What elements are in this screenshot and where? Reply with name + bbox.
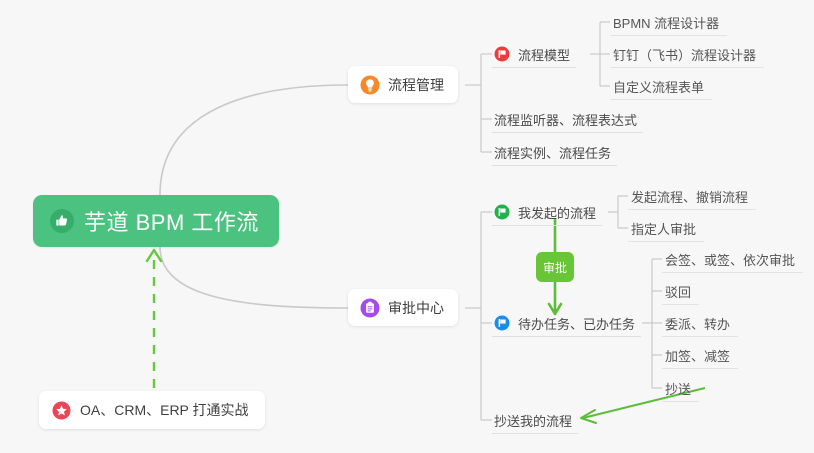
star-icon <box>52 401 71 420</box>
root-label: 芋道 BPM 工作流 <box>84 205 259 237</box>
branch-label: 流程管理 <box>388 75 444 95</box>
sub-node-label: 待办任务、已办任务 <box>518 314 635 333</box>
bottom-note-node[interactable]: OA、CRM、ERP 打通实战 <box>39 391 265 429</box>
branch-node-process-management[interactable]: 流程管理 <box>348 66 458 103</box>
sub-node-process-model[interactable]: 流程模型 <box>492 41 576 68</box>
sub-node-my-initiated-process[interactable]: 我发起的流程 <box>492 199 602 226</box>
leaf-label: 驳回 <box>665 282 691 301</box>
leaf-node[interactable]: 驳回 <box>662 278 699 305</box>
sub-node-label: 流程模型 <box>518 45 570 64</box>
branch-label: 审批中心 <box>388 298 444 318</box>
root-node[interactable]: 芋道 BPM 工作流 <box>33 195 279 247</box>
leaf-node[interactable]: 发起流程、撤销流程 <box>628 183 756 210</box>
leaf-label: 加签、减签 <box>665 346 730 365</box>
lightbulb-icon <box>360 75 380 95</box>
bottom-note-label: OA、CRM、ERP 打通实战 <box>80 400 249 420</box>
sub-node-process-listener[interactable]: 流程监听器、流程表达式 <box>492 106 643 133</box>
approval-flow-badge-label: 审批 <box>543 259 567 276</box>
sub-node-label: 我发起的流程 <box>518 203 596 222</box>
sub-node-label: 抄送我的流程 <box>494 411 572 430</box>
approval-flow-badge[interactable]: 审批 <box>536 252 574 282</box>
branch-node-approval-center[interactable]: 审批中心 <box>348 289 458 326</box>
sub-node-cc-to-me[interactable]: 抄送我的流程 <box>492 407 578 434</box>
leaf-label: 抄送 <box>665 379 691 398</box>
mindmap-canvas: 芋道 BPM 工作流 流程管理 流程模型 BPMN 流程设计器 钉钉（飞书）流程 <box>0 0 814 453</box>
leaf-label: BPMN 流程设计器 <box>613 13 719 32</box>
leaf-node[interactable]: 抄送 <box>662 375 699 402</box>
leaf-label: 委派、转办 <box>665 314 730 333</box>
leaf-label: 钉钉（飞书）流程设计器 <box>613 45 756 64</box>
leaf-label: 自定义流程表单 <box>613 77 704 96</box>
flag-icon <box>494 315 510 331</box>
leaf-node[interactable]: 会签、或签、依次审批 <box>662 246 803 273</box>
leaf-label: 发起流程、撤销流程 <box>631 187 748 206</box>
thumbs-up-icon <box>49 208 75 234</box>
flag-icon <box>494 204 510 220</box>
leaf-label: 会签、或签、依次审批 <box>665 250 795 269</box>
sub-node-process-instance[interactable]: 流程实例、流程任务 <box>492 139 617 166</box>
leaf-node[interactable]: BPMN 流程设计器 <box>610 9 727 36</box>
leaf-label: 指定人审批 <box>631 219 696 238</box>
clipboard-icon <box>360 298 380 318</box>
leaf-node[interactable]: 委派、转办 <box>662 310 738 337</box>
leaf-node[interactable]: 钉钉（飞书）流程设计器 <box>610 41 764 68</box>
leaf-node[interactable]: 加签、减签 <box>662 342 738 369</box>
flag-icon <box>494 46 510 62</box>
leaf-node[interactable]: 自定义流程表单 <box>610 73 712 100</box>
sub-node-todo-done-tasks[interactable]: 待办任务、已办任务 <box>492 310 641 337</box>
leaf-node[interactable]: 指定人审批 <box>628 215 704 242</box>
sub-node-label: 流程监听器、流程表达式 <box>494 110 637 129</box>
sub-node-label: 流程实例、流程任务 <box>494 143 611 162</box>
